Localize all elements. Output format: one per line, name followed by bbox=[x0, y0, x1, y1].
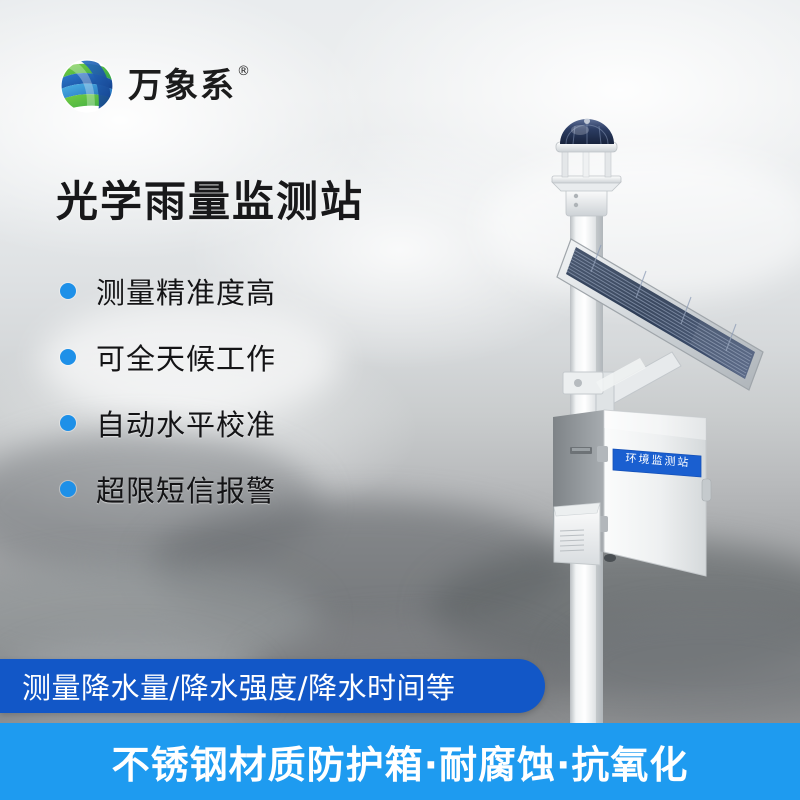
enclosure-label-text: 环境监测站 bbox=[625, 450, 691, 471]
trademark-symbol: ® bbox=[237, 65, 252, 78]
brand-logo: 万象系 ® bbox=[58, 57, 236, 115]
feature-item: 可全天候工作 bbox=[60, 324, 276, 390]
feature-list: 测量精准度高 可全天候工作 自动水平校准 超限短信报警 bbox=[60, 258, 276, 522]
feature-label: 超限短信报警 bbox=[96, 468, 276, 510]
brand-name-text: 万象系 bbox=[128, 66, 236, 106]
page-title: 光学雨量监测站 bbox=[56, 168, 364, 229]
pill-banner: 测量降水量/降水强度/降水时间等 bbox=[0, 659, 545, 713]
feature-item: 测量精准度高 bbox=[60, 258, 276, 324]
feature-label: 可全天候工作 bbox=[96, 336, 276, 378]
feature-item: 自动水平校准 bbox=[60, 390, 276, 456]
footer-banner: 不锈钢材质防护箱·耐腐蚀·抗氧化 bbox=[0, 723, 800, 800]
bullet-dot-icon bbox=[60, 481, 76, 497]
feature-label: 测量精准度高 bbox=[96, 270, 276, 312]
footer-banner-text: 不锈钢材质防护箱·耐腐蚀·抗氧化 bbox=[112, 734, 689, 789]
product-poster: 环境监测站 bbox=[0, 0, 800, 800]
globe-swoosh-logo-icon bbox=[58, 57, 116, 115]
bullet-dot-icon bbox=[60, 415, 76, 431]
feature-label: 自动水平校准 bbox=[96, 402, 276, 444]
bullet-dot-icon bbox=[60, 283, 76, 299]
cloud-shape bbox=[480, 150, 800, 300]
brand-name: 万象系 ® bbox=[128, 69, 236, 103]
pill-banner-text: 测量降水量/降水强度/降水时间等 bbox=[22, 665, 456, 707]
bullet-dot-icon bbox=[60, 349, 76, 365]
feature-item: 超限短信报警 bbox=[60, 456, 276, 522]
